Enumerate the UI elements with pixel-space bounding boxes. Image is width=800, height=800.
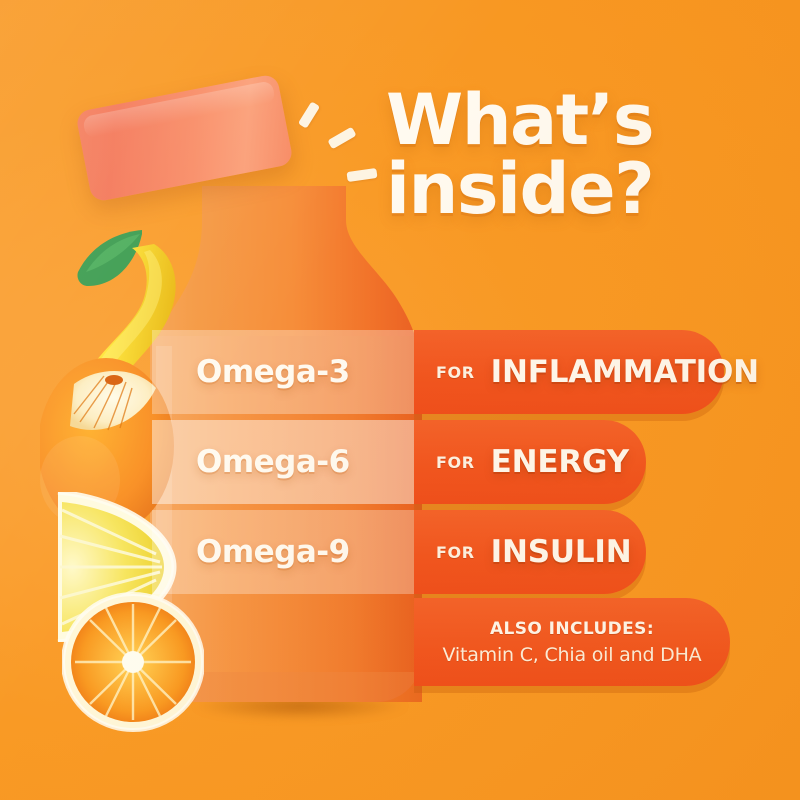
ingredient-row: Omega-3FORINFLAMMATION [0, 330, 800, 414]
benefit-pill: FORINSULIN [414, 510, 646, 594]
ingredient-name: Omega-6 [196, 444, 350, 480]
benefit-text: ENERGY [491, 444, 629, 480]
ingredient-band: Omega-3 [152, 330, 438, 414]
also-includes-title: ALSO INCLUDES: [490, 619, 654, 639]
benefit-for-label: FOR [436, 453, 475, 472]
benefit-for-label: FOR [436, 543, 475, 562]
also-includes-card: ALSO INCLUDES: Vitamin C, Chia oil and D… [414, 598, 730, 686]
ingredient-row: Omega-9FORINSULIN [0, 510, 800, 594]
also-includes-text: Vitamin C, Chia oil and DHA [443, 644, 702, 666]
benefit-text: INFLAMMATION [491, 354, 759, 390]
ingredient-row: Omega-6FORENERGY [0, 420, 800, 504]
benefit-pill: FORENERGY [414, 420, 646, 504]
promo-graphic: What’s inside? Omega-3FORINFLAMMATIONOme… [0, 0, 800, 800]
ingredient-band: Omega-9 [152, 510, 438, 594]
benefit-for-label: FOR [436, 363, 475, 382]
ingredient-band: Omega-6 [152, 420, 438, 504]
benefit-text: INSULIN [491, 534, 632, 570]
benefit-pill: FORINFLAMMATION [414, 330, 724, 414]
ingredient-name: Omega-3 [196, 354, 350, 390]
ingredient-name: Omega-9 [196, 534, 350, 570]
